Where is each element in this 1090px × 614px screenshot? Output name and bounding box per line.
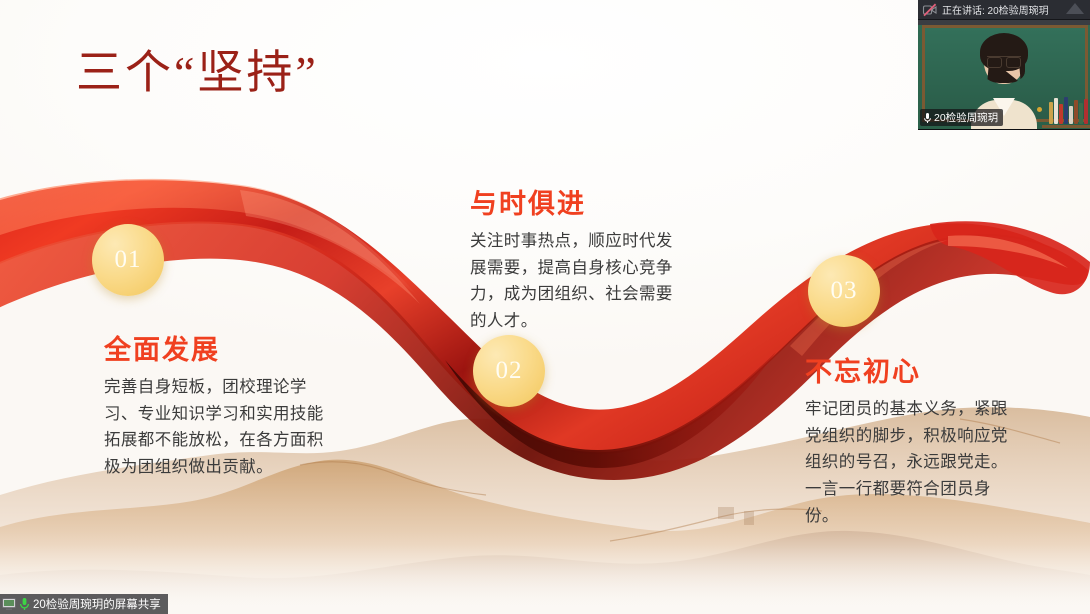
- books-stack: [1049, 97, 1088, 124]
- screen-share-status-bar[interactable]: 20检验周琬玥的屏幕共享: [0, 594, 168, 614]
- video-thumbnail-panel[interactable]: 正在讲话: 20检验周琬玥: [918, 0, 1090, 130]
- participant-glasses: [987, 56, 1021, 65]
- participant-name: 20检验周琬玥: [934, 110, 998, 125]
- step-number-badge-02: 02: [473, 335, 545, 407]
- chevron-up-icon[interactable]: [1066, 3, 1084, 14]
- camera-off-icon[interactable]: [922, 3, 938, 17]
- microphone-icon: [923, 112, 932, 124]
- video-feed[interactable]: 20检验周琬玥: [918, 20, 1090, 130]
- bookshelf: [1042, 125, 1090, 128]
- screen-share-icon[interactable]: [2, 598, 16, 610]
- section-block-3: 不忘初心 牢记团员的基本义务，紧跟党组织的脚步，积极响应党组织的号召，永远跟党走…: [805, 350, 1023, 530]
- section-heading-3: 不忘初心: [805, 350, 1023, 389]
- section-block-2: 与时俱进 关注时事热点，顺应时代发展需要，提高自身核心竞争力，成为团组织、社会需…: [470, 182, 682, 335]
- participant-name-tag: 20检验周琬玥: [920, 109, 1003, 126]
- video-panel-header[interactable]: 正在讲话: 20检验周琬玥: [918, 0, 1090, 20]
- section-heading-2: 与时俱进: [470, 182, 682, 221]
- section-body-3: 牢记团员的基本义务，紧跟党组织的脚步，积极响应党组织的号召，永远跟党走。一言一行…: [805, 396, 1023, 530]
- section-heading-1: 全面发展: [104, 328, 326, 367]
- participant-badge-pin: [1037, 107, 1042, 112]
- step-number-badge-01: 01: [92, 224, 164, 296]
- section-block-1: 全面发展 完善自身短板，团校理论学习、专业知识学习和实用技能拓展都不能放松，在各…: [104, 328, 326, 481]
- screen-share-label: 20检验周琬玥的屏幕共享: [33, 596, 161, 612]
- speaking-now-label: 正在讲话: 20检验周琬玥: [942, 2, 1086, 17]
- microphone-icon[interactable]: [19, 597, 30, 611]
- section-body-1: 完善自身短板，团校理论学习、专业知识学习和实用技能拓展都不能放松，在各方面积极为…: [104, 374, 326, 481]
- section-body-2: 关注时事热点，顺应时代发展需要，提高自身核心竞争力，成为团组织、社会需要的人才。: [470, 228, 682, 335]
- page-title: 三个“坚持”: [76, 36, 319, 102]
- step-number-badge-03: 03: [808, 255, 880, 327]
- screen-share-slide: 三个“坚持” 01 02 03 全面发展 完善自身短板，团校理论学习、专业知识学…: [0, 0, 1090, 614]
